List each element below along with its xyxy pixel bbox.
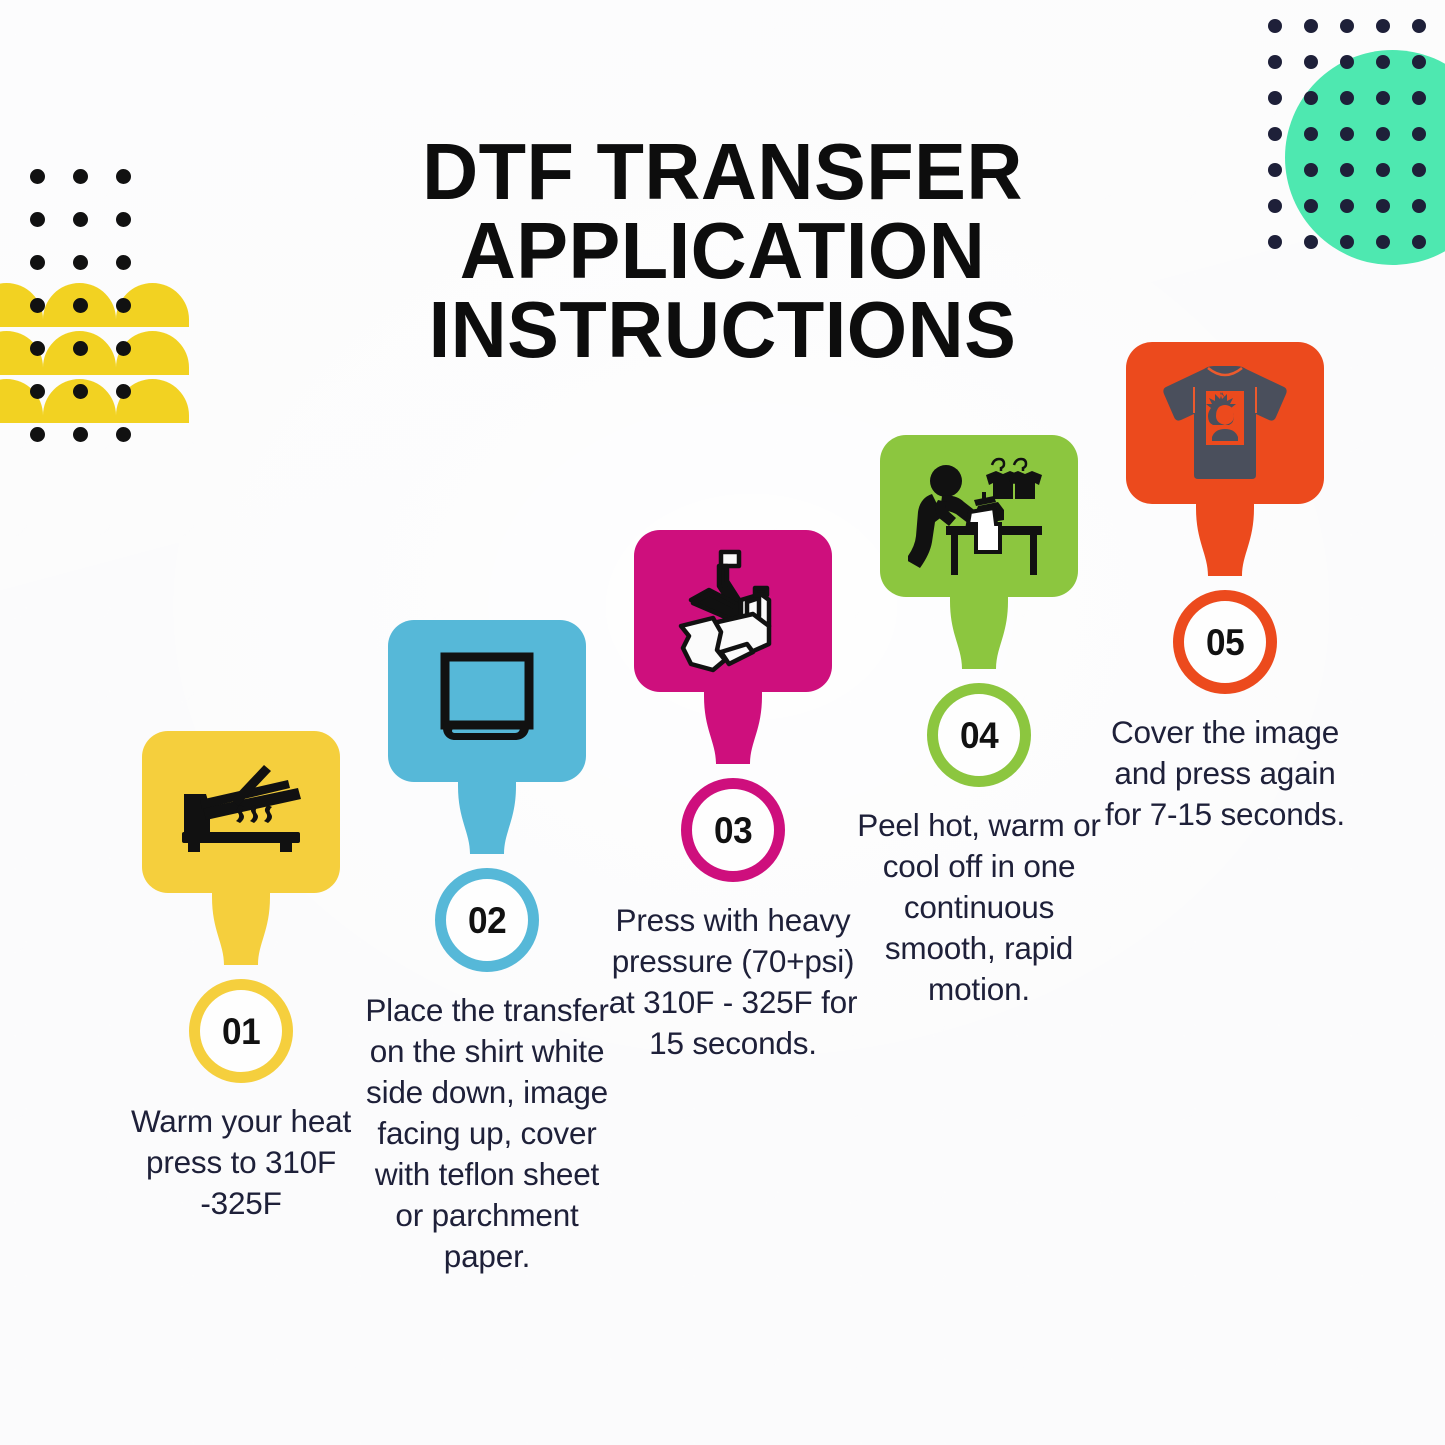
step-04-caption: Peel hot, warm or cool off in one contin… (853, 805, 1105, 1010)
step-item-03[interactable]: 03 Press with heavy pressure (70+psi) at… (604, 530, 862, 1064)
step-number-label: 03 (714, 810, 752, 852)
step-item-04[interactable]: 04 Peel hot, warm or cool off in one con… (850, 435, 1108, 1010)
printed-tshirt-icon (1158, 363, 1292, 483)
step-05-icon-card[interactable] (1126, 342, 1324, 504)
step-02-icon-card[interactable] (388, 620, 586, 782)
heat-press-machine-icon (669, 548, 797, 674)
step-number-label: 04 (960, 715, 998, 757)
step-number-label: 05 (1206, 622, 1244, 664)
transfer-sheet-icon (433, 647, 541, 755)
infographic-canvas: DTF TRANSFER APPLICATION INSTRUCTIONS (0, 0, 1445, 1445)
step-04-icon-card[interactable] (880, 435, 1078, 597)
step-number-label: 01 (222, 1011, 260, 1053)
step-05-caption: Cover the image and press again for 7-15… (1099, 712, 1351, 835)
step-01-number-badge[interactable]: 01 (189, 979, 293, 1083)
step-02-number-badge[interactable]: 02 (435, 868, 539, 972)
steps-container: 01 Warm your heat press to 310F -325F (0, 0, 1445, 1445)
step-05-number-badge[interactable]: 05 (1173, 590, 1277, 694)
step-number-label: 02 (468, 900, 506, 942)
step-item-01[interactable]: 01 Warm your heat press to 310F -325F (112, 731, 370, 1224)
step-03-caption: Press with heavy pressure (70+psi) at 31… (607, 900, 859, 1064)
step-01-caption: Warm your heat press to 310F -325F (115, 1101, 367, 1224)
step-03-icon-card[interactable] (634, 530, 832, 692)
step-02-caption: Place the transfer on the shirt white si… (361, 990, 613, 1277)
step-01-icon-card[interactable] (142, 731, 340, 893)
heat-press-open-icon (176, 764, 306, 860)
step-item-02[interactable]: 02 Place the transfer on the shirt white… (358, 620, 616, 1277)
person-pressing-shirt-icon (908, 454, 1050, 578)
step-item-05[interactable]: 05 Cover the image and press again for 7… (1096, 342, 1354, 835)
step-03-number-badge[interactable]: 03 (681, 778, 785, 882)
step-04-number-badge[interactable]: 04 (927, 683, 1031, 787)
